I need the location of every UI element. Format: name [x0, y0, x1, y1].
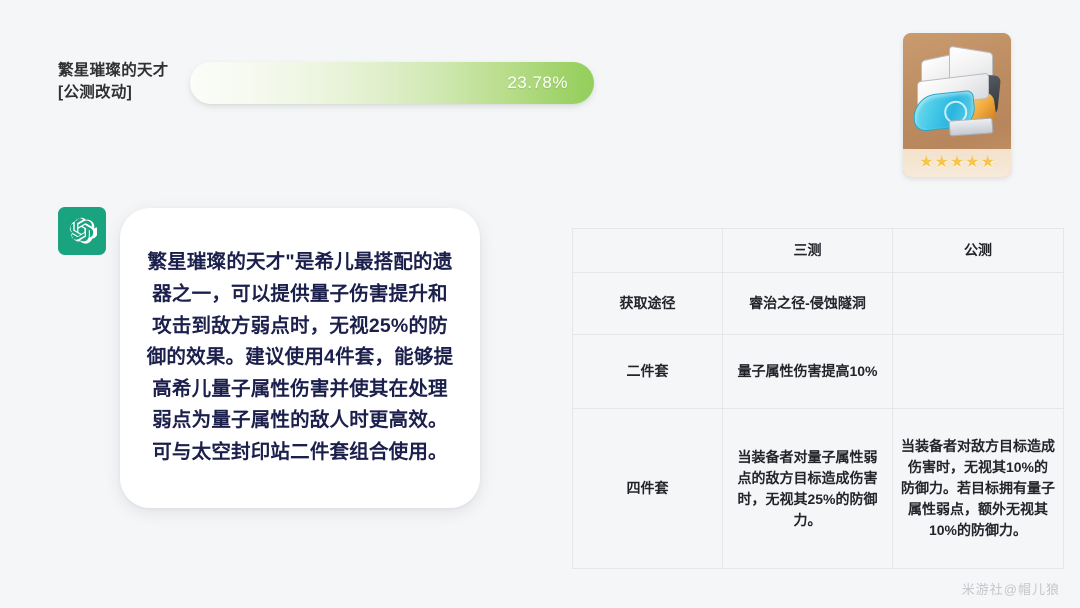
table-header-blank	[573, 229, 723, 273]
star-icon: ★	[965, 155, 979, 171]
progress-value-label: 23.78%	[507, 73, 568, 93]
openai-logo-icon	[58, 207, 106, 255]
cell-four-piece-beta3: 当装备者对量子属性弱点的敌方目标造成伤害时，无视其25%的防御力。	[723, 409, 893, 569]
table-row: 获取途径 睿治之径-侵蚀隧洞	[573, 273, 1064, 335]
table-header-public: 公测	[893, 229, 1064, 273]
slide-canvas: 繁星璀璨的天才[公测改动] 23.78% ★ ★ ★ ★ ★ 繁星璀璨的天才"是…	[0, 0, 1080, 608]
cell-source-beta3: 睿治之径-侵蚀隧洞	[723, 273, 893, 335]
rarity-stars: ★ ★ ★ ★ ★	[903, 149, 1011, 177]
star-icon: ★	[934, 155, 948, 171]
relic-artwork-icon	[903, 33, 1011, 149]
cell-two-piece-beta3: 量子属性伤害提高10%	[723, 335, 893, 409]
star-icon: ★	[919, 155, 933, 171]
progress-bar[interactable]: 23.78%	[190, 62, 594, 104]
row-label-two-piece: 二件套	[573, 335, 723, 409]
table-header-beta3: 三测	[723, 229, 893, 273]
star-icon: ★	[950, 155, 964, 171]
row-label-source: 获取途径	[573, 273, 723, 335]
cell-four-piece-public: 当装备者对敌方目标造成伤害时，无视其10%的防御力。若目标拥有量子属性弱点，额外…	[893, 409, 1064, 569]
row-label-four-piece: 四件套	[573, 409, 723, 569]
star-icon: ★	[981, 155, 995, 171]
chat-bubble-text: 繁星璀璨的天才"是希儿最搭配的遗器之一，可以提供量子伤害提升和攻击到敌方弱点时，…	[146, 247, 454, 468]
page-title: 繁星璀璨的天才[公测改动]	[58, 60, 186, 105]
cell-source-public	[893, 273, 1064, 335]
relic-icon-card[interactable]: ★ ★ ★ ★ ★	[903, 33, 1011, 177]
chat-bubble: 繁星璀璨的天才"是希儿最搭配的遗器之一，可以提供量子伤害提升和攻击到敌方弱点时，…	[120, 208, 480, 508]
table-row: 二件套 量子属性伤害提高10%	[573, 335, 1064, 409]
cell-two-piece-public	[893, 335, 1064, 409]
watermark: 米游社@帽儿狼	[962, 579, 1060, 598]
table-row: 四件套 当装备者对量子属性弱点的敌方目标造成伤害时，无视其25%的防御力。 当装…	[573, 409, 1064, 569]
comparison-table: 三测 公测 获取途径 睿治之径-侵蚀隧洞 二件套 量子属性伤害提高10% 四件套…	[572, 228, 1064, 569]
table-header-row: 三测 公测	[573, 229, 1064, 273]
